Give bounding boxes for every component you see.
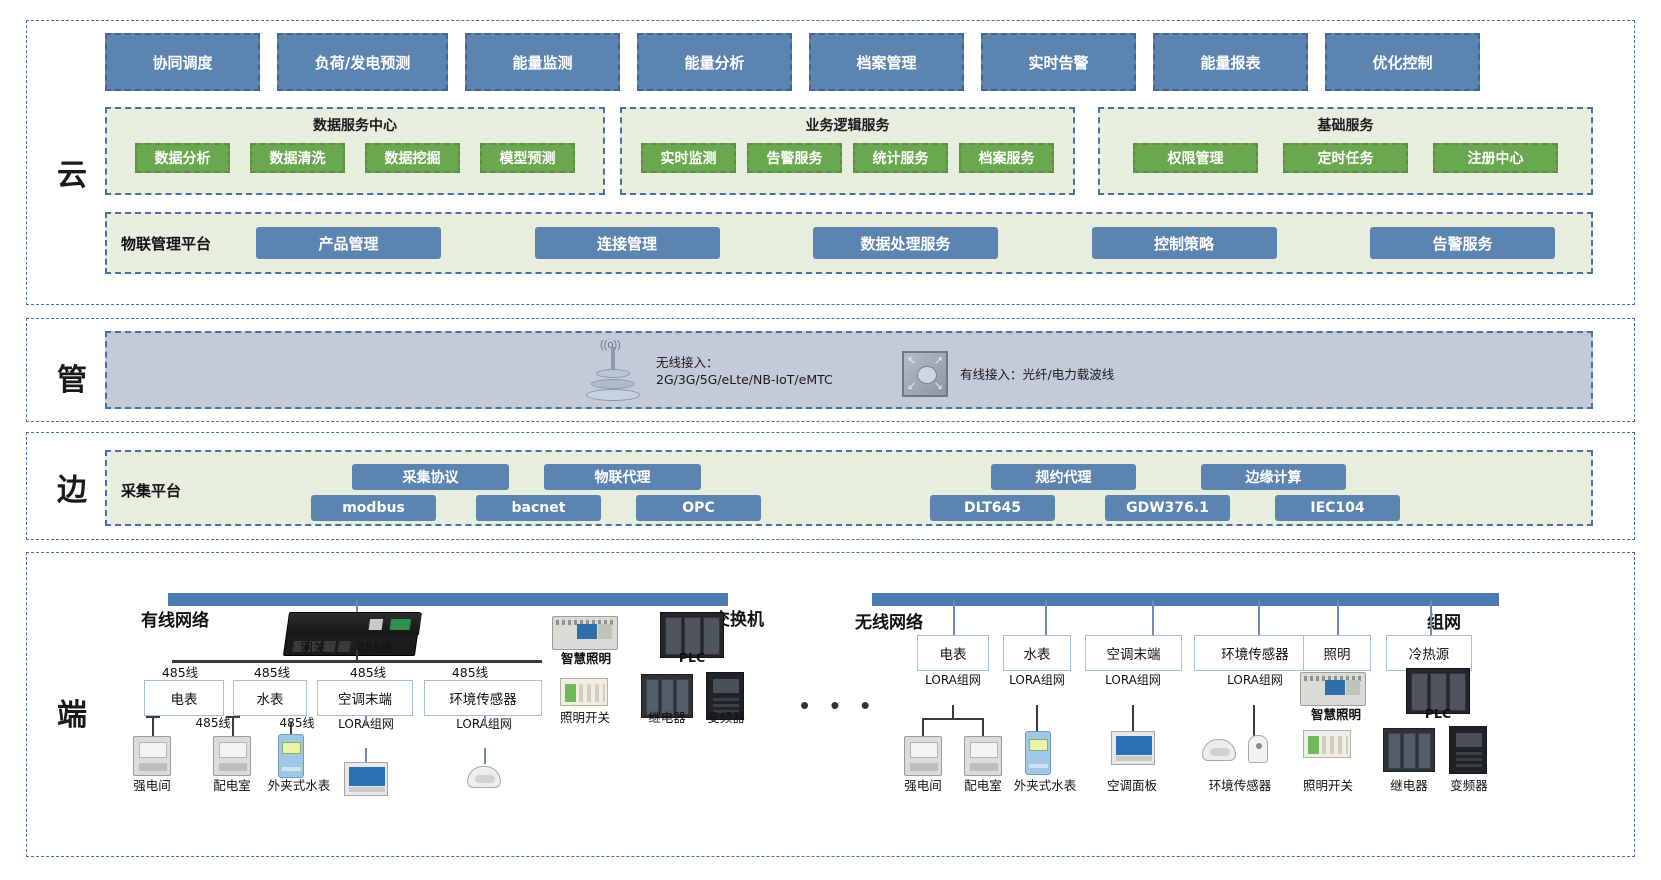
- connector-line: [1036, 705, 1038, 731]
- wired-access-text: 有线接入：光纤/电力载波线: [960, 366, 1114, 383]
- device-label-jidianqi-wired: 继电器: [633, 710, 701, 725]
- service-group-title: 业务逻辑服务: [622, 115, 1073, 135]
- connector-line: [1258, 600, 1260, 635]
- device-node-dianbiao-wireless[interactable]: 电表: [917, 635, 989, 671]
- electric-meter-icon: [213, 736, 251, 776]
- device-label-plc-wireless: PLC: [1402, 706, 1474, 721]
- edge-box-guiyuedaili[interactable]: 规约代理: [991, 464, 1136, 490]
- water-meter-icon: [278, 734, 304, 778]
- cell-tower-icon: ((o)): [582, 339, 644, 403]
- sensor-probe-icon: [1248, 735, 1268, 763]
- device-layer-label: 端: [57, 690, 88, 734]
- smart-lighting-icon: [1300, 672, 1366, 706]
- wired-network-bus: [168, 593, 728, 606]
- branch-label-485-1: 485线: [150, 665, 210, 680]
- edge-box-caijixieyi[interactable]: 采集协议: [352, 464, 509, 490]
- water-meter-icon: [1025, 731, 1051, 775]
- device-label-plc-wired: PLC: [656, 650, 728, 665]
- device-node-shuibiao-wired[interactable]: 水表: [233, 680, 307, 716]
- app-box-fuhefadianyuce[interactable]: 负荷/发电预测: [277, 33, 448, 91]
- device-node-lengreyuan-wireless[interactable]: 冷热源: [1386, 635, 1472, 671]
- connector-line: [290, 722, 292, 734]
- edge-box-bacnet[interactable]: bacnet: [476, 495, 601, 521]
- connector-line: [146, 716, 160, 718]
- device-label-bianpinqi-wired: 变频器: [692, 710, 760, 725]
- edge-box-bianyuanjisuan[interactable]: 边缘计算: [1201, 464, 1346, 490]
- platform-box-shujuchuli[interactable]: 数据处理服务: [813, 227, 998, 259]
- lighting-switch-icon: [1303, 730, 1351, 758]
- service-group-data-center: 数据服务中心 数据分析 数据清洗 数据挖掘 模型预测: [105, 107, 605, 195]
- electric-meter-icon: [904, 736, 942, 776]
- device-node-shuibiao-wireless[interactable]: 水表: [1003, 635, 1071, 671]
- device-label-zhihuizhaoming-wired: 智慧照明: [542, 651, 630, 666]
- connector-line: [1253, 705, 1255, 739]
- connector-line: [356, 650, 358, 661]
- edge-box-wulianda ili[interactable]: 物联代理: [544, 464, 701, 490]
- collection-platform-label: 采集平台: [121, 480, 181, 501]
- branch-label-485-2: 485线: [242, 665, 302, 680]
- leaf-label-kongtiaomianban: 空调面板: [1092, 778, 1172, 793]
- electric-meter-icon: [133, 736, 171, 776]
- connector-line: [152, 718, 154, 736]
- app-box-danganguanli[interactable]: 档案管理: [809, 33, 964, 91]
- cloud-layer-label: 云: [57, 150, 88, 194]
- network-access-panel: ((o)) 无线接入： 2G/3G/5G/eLte/NB-IoT/eMTC ↖↗…: [105, 331, 1593, 409]
- app-box-shishigaojing[interactable]: 实时告警: [981, 33, 1136, 91]
- wired-network-heading: 有线网络: [141, 606, 209, 631]
- service-box-danganfuwu[interactable]: 档案服务: [959, 143, 1054, 173]
- sub-label-lora-w3: LORA组网: [1105, 672, 1161, 688]
- service-box-gaojingfuwu[interactable]: 告警服务: [747, 143, 842, 173]
- device-node-zhaoming-wireless[interactable]: 照明: [1303, 635, 1371, 671]
- service-box-zhucezhongxin[interactable]: 注册中心: [1433, 143, 1558, 173]
- edge-box-gdw3761[interactable]: GDW376.1: [1105, 495, 1230, 521]
- platform-box-lianjieguanli[interactable]: 连接管理: [535, 227, 720, 259]
- connector-line: [1132, 705, 1134, 731]
- edge-box-iec104[interactable]: IEC104: [1275, 495, 1400, 521]
- group-network-heading: 组网: [1427, 608, 1461, 633]
- platform-box-chanpinguanli[interactable]: 产品管理: [256, 227, 441, 259]
- vfd-icon: [1449, 726, 1487, 774]
- device-label-zhihuizhaoming-wireless: 智慧照明: [1292, 707, 1380, 722]
- wired-access-item: ↖↗ ↙↘ 有线接入：光纤/电力载波线: [902, 351, 1114, 397]
- ac-panel-icon: [344, 762, 388, 796]
- relay-icon: [1383, 728, 1435, 772]
- connector-line: [232, 718, 234, 736]
- edge-box-opc[interactable]: OPC: [636, 495, 761, 521]
- service-box-quanxianguanli[interactable]: 权限管理: [1133, 143, 1258, 173]
- smoke-detector-icon: [1202, 739, 1236, 761]
- wireless-access-item: ((o)) 无线接入： 2G/3G/5G/eLte/NB-IoT/eMTC: [582, 339, 833, 403]
- connector-line: [365, 716, 367, 726]
- connector-line: [484, 748, 486, 764]
- sub-label-485-2: 485线: [262, 716, 332, 731]
- electric-meter-icon: [964, 736, 1002, 776]
- sub-label-lora-w4: LORA组网: [1227, 672, 1283, 688]
- environment-sensor-icon: [467, 766, 501, 788]
- service-box-shishijiance[interactable]: 实时监测: [641, 143, 736, 173]
- iot-management-platform: 物联管理平台 产品管理 连接管理 数据处理服务 控制策略 告警服务: [105, 212, 1593, 274]
- edge-box-modbus[interactable]: modbus: [311, 495, 436, 521]
- leaf-label-huanjingchuanganqi: 环境传感器: [1190, 778, 1290, 793]
- app-box-youhuakongzhi[interactable]: 优化控制: [1325, 33, 1480, 91]
- sub-label-lora-w1: LORA组网: [925, 672, 981, 688]
- device-label-jidianqi-wireless: 继电器: [1375, 778, 1443, 793]
- wireless-network-heading: 无线网络: [855, 608, 923, 633]
- service-box-dingshirenwu[interactable]: 定时任务: [1283, 143, 1408, 173]
- platform-box-kongzhicelue[interactable]: 控制策略: [1092, 227, 1277, 259]
- service-group-title: 数据服务中心: [107, 115, 603, 135]
- leaf-label-qiangdianjian-wired: 强电间: [119, 778, 185, 793]
- collection-platform-panel: 采集平台 采集协议 物联代理 规约代理 边缘计算 modbus bacnet O…: [105, 450, 1593, 526]
- connector-line: [922, 718, 924, 736]
- device-label-zhaomingkaiguan-wired: 照明开关: [545, 710, 625, 725]
- app-box-nengliangfenxi[interactable]: 能量分析: [637, 33, 792, 91]
- service-box-shujuqingxi[interactable]: 数据清洗: [250, 143, 345, 173]
- connector-line: [1045, 600, 1047, 635]
- connector-line: [484, 716, 486, 726]
- service-group-business-logic: 业务逻辑服务 实时监测 告警服务 统计服务 档案服务: [620, 107, 1075, 195]
- connector-line: [1430, 600, 1432, 635]
- platform-box-gaojingfuwu[interactable]: 告警服务: [1370, 227, 1555, 259]
- edge-layer-label: 边: [57, 465, 88, 509]
- leaf-label-qiangdianjian-wireless: 强电间: [890, 778, 956, 793]
- connector-line: [922, 718, 984, 720]
- ellipsis-separator: • • •: [800, 690, 877, 721]
- device-label-zhaomingkaiguan-wireless: 照明开关: [1288, 778, 1368, 793]
- connector-line: [226, 716, 240, 718]
- edge-box-dlt645[interactable]: DLT645: [930, 495, 1055, 521]
- sub-label-485-1: 485线: [178, 716, 248, 731]
- connector-line: [1152, 600, 1154, 635]
- service-group-title: 基础服务: [1100, 115, 1591, 135]
- smart-lighting-icon: [552, 616, 618, 650]
- device-label-bianpinqi-wireless: 变频器: [1435, 778, 1503, 793]
- device-node-huanjingchuanganqi-wireless[interactable]: 环境传感器: [1194, 635, 1316, 671]
- gateway-label: 网关: [283, 640, 343, 655]
- app-box-xietiaodiaodu[interactable]: 协同调度: [105, 33, 260, 91]
- branch-label-485-4: 485线: [440, 665, 500, 680]
- lighting-switch-icon: [560, 678, 608, 706]
- ac-panel-icon: [1111, 731, 1155, 765]
- branch-label-485-3: 485线: [338, 665, 398, 680]
- cloud-application-row: 协同调度 负荷/发电预测 能量监测 能量分析 档案管理 实时告警 能量报表 优化…: [105, 33, 1593, 93]
- service-box-shujufenxi[interactable]: 数据分析: [135, 143, 230, 173]
- leaf-label-waijiashishuibiao-wired: 外夹式水表: [256, 778, 342, 793]
- device-node-huanjingchuanganqi-wired[interactable]: 环境传感器: [424, 680, 542, 716]
- device-node-dianbiao-wired[interactable]: 电表: [144, 680, 224, 716]
- wireless-network-bus: [872, 593, 1499, 606]
- service-box-tongjifuwu[interactable]: 统计服务: [853, 143, 948, 173]
- device-node-kongtiaomoduan-wireless[interactable]: 空调末端: [1085, 635, 1182, 671]
- leaf-label-waijiashishuibiao-wireless: 外夹式水表: [1000, 778, 1090, 793]
- wireless-access-text: 无线接入： 2G/3G/5G/eLte/NB-IoT/eMTC: [656, 354, 833, 388]
- network-layer-label: 管: [57, 355, 88, 399]
- connector-line: [1337, 600, 1339, 635]
- device-node-kongtiaomoduan-wired[interactable]: 空调末端: [317, 680, 413, 716]
- service-group-basic-services: 基础服务 权限管理 定时任务 注册中心: [1098, 107, 1593, 195]
- sub-label-lora-w2: LORA组网: [1009, 672, 1065, 688]
- iot-platform-label: 物联管理平台: [121, 233, 256, 254]
- service-box-shujuwajue[interactable]: 数据挖掘: [365, 143, 460, 173]
- connector-line: [953, 600, 955, 635]
- app-box-nengliangbaobiao[interactable]: 能量报表: [1153, 33, 1308, 91]
- gateway-bus-label: 485线: [345, 640, 405, 655]
- network-switch-icon: ↖↗ ↙↘: [902, 351, 948, 397]
- connector-line: [982, 718, 984, 736]
- app-box-nengliangjiance[interactable]: 能量监测: [465, 33, 620, 91]
- service-box-moxingyuce[interactable]: 模型预测: [480, 143, 575, 173]
- connector-line: [952, 705, 954, 719]
